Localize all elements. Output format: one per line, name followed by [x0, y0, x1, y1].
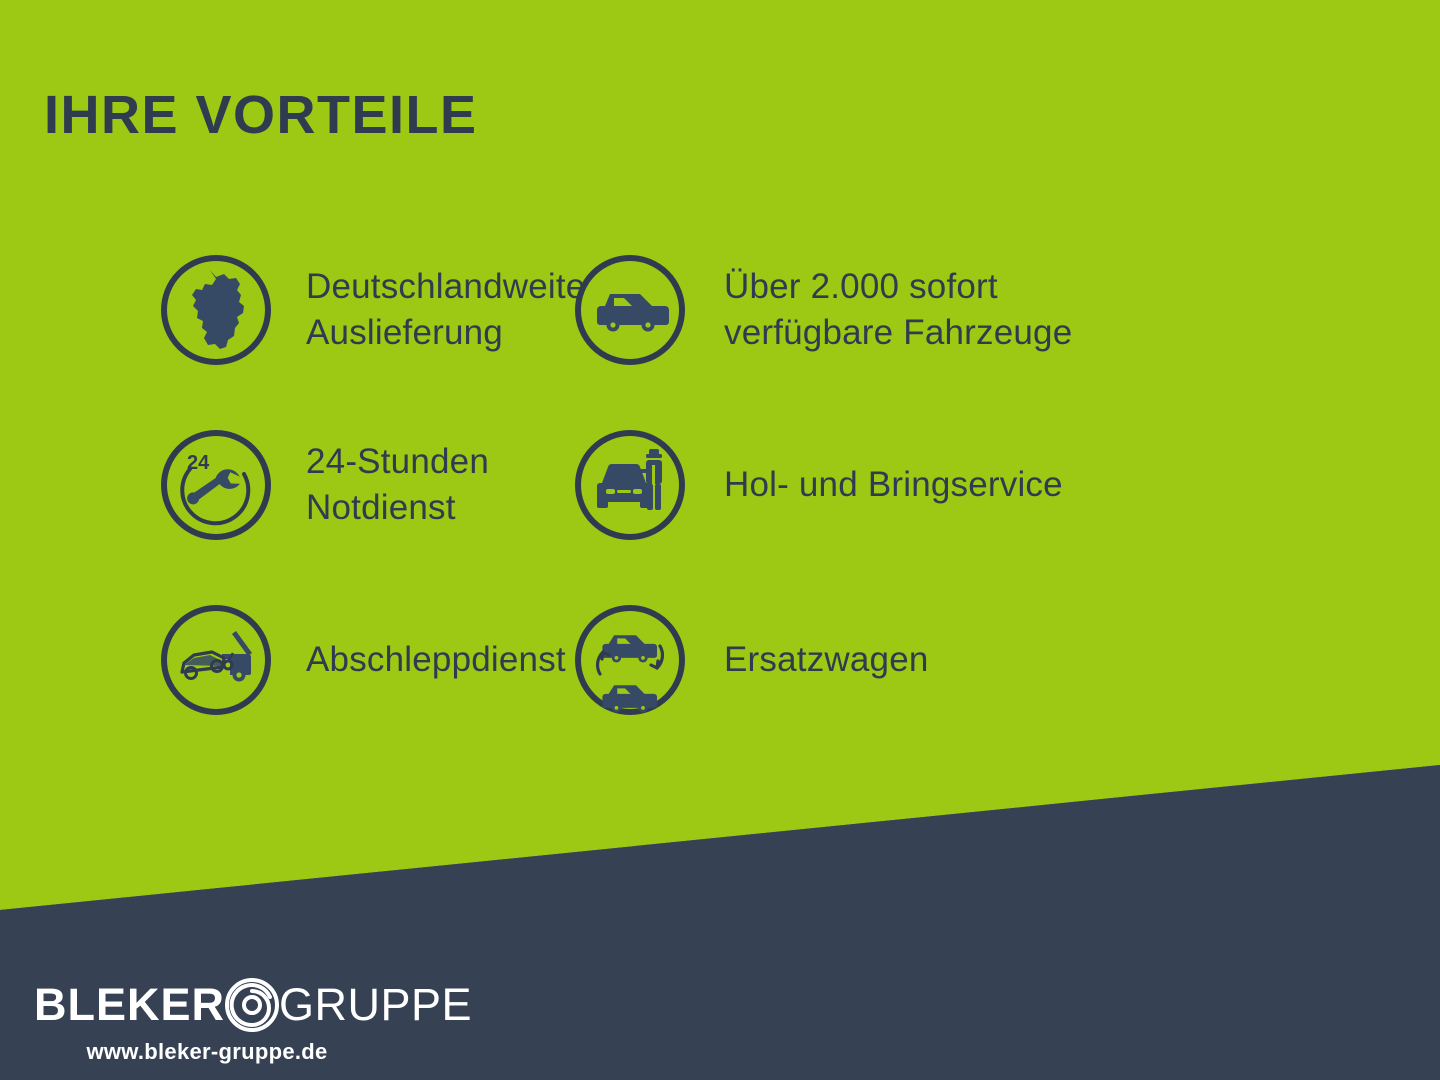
- tow-truck-icon: [158, 602, 274, 718]
- benefits-row: 24 24-Stunden Notdienst: [0, 397, 1440, 572]
- benefit-label: Ersatzwagen: [724, 637, 929, 683]
- benefits-row: Deutschlandweite Auslieferung Über 2.000…: [0, 222, 1440, 397]
- car-side-icon: [572, 252, 688, 368]
- benefit-label-line2: verfügbare Fahrzeuge: [724, 310, 1072, 356]
- replacement-car-icon: [572, 602, 688, 718]
- slide-canvas: IHRE VORTEILE Deutschlandweite Ausliefer…: [0, 0, 1440, 1080]
- benefit-label-line1: Hol- und Bringservice: [724, 462, 1063, 508]
- benefits-row: Abschleppdienst: [0, 572, 1440, 747]
- benefit-label: Über 2.000 sofort verfügbare Fahrzeuge: [724, 264, 1072, 355]
- page-title: IHRE VORTEILE: [44, 88, 478, 142]
- benefit-label: Abschleppdienst: [306, 637, 566, 683]
- benefit-label-line2: Auslieferung: [306, 310, 585, 356]
- logo-wordmark-row: BLEKER GRUPPE: [34, 975, 414, 1033]
- benefit-label-line1: 24-Stunden: [306, 439, 489, 485]
- brand-logo[interactable]: BLEKER GRUPPE www.bleker-gruppe.de: [34, 975, 414, 1065]
- benefit-item-deutschlandweite-auslieferung: Deutschlandweite Auslieferung: [0, 222, 560, 397]
- logo-website-url[interactable]: www.bleker-gruppe.de: [34, 1039, 414, 1065]
- logo-word-gruppe: GRUPPE: [279, 982, 472, 1027]
- benefits-grid: Deutschlandweite Auslieferung Über 2.000…: [0, 222, 1440, 747]
- benefit-label-line2: Notdienst: [306, 485, 489, 531]
- 24-hour-wrench-icon: 24: [158, 427, 274, 543]
- towed-car: [182, 652, 224, 679]
- benefit-item-abschleppdienst: Abschleppdienst: [0, 572, 560, 747]
- hours-badge-text: 24: [187, 452, 210, 474]
- car-top: [602, 635, 657, 662]
- germany-map-icon: [158, 252, 274, 368]
- benefit-label-line1: Deutschlandweite: [306, 264, 585, 310]
- car-with-driver-icon: [572, 427, 688, 543]
- benefit-label: 24-Stunden Notdienst: [306, 439, 489, 530]
- benefit-item-verfuegbare-fahrzeuge: Über 2.000 sofort verfügbare Fahrzeuge: [560, 222, 1260, 397]
- spiral-circle-icon: [221, 973, 283, 1035]
- tow-truck-body: [222, 631, 252, 682]
- logo-word-bleker: BLEKER: [34, 982, 225, 1027]
- benefit-label: Hol- und Bringservice: [724, 462, 1063, 508]
- benefit-label-line1: Über 2.000 sofort: [724, 264, 1072, 310]
- benefit-item-ersatzwagen: Ersatzwagen: [560, 572, 1260, 747]
- benefit-label-line1: Ersatzwagen: [724, 637, 929, 683]
- benefit-label: Deutschlandweite Auslieferung: [306, 264, 585, 355]
- benefit-label-line1: Abschleppdienst: [306, 637, 566, 683]
- benefit-item-hol-und-bringservice: Hol- und Bringservice: [560, 397, 1260, 572]
- benefit-item-24-stunden-notdienst: 24 24-Stunden Notdienst: [0, 397, 560, 572]
